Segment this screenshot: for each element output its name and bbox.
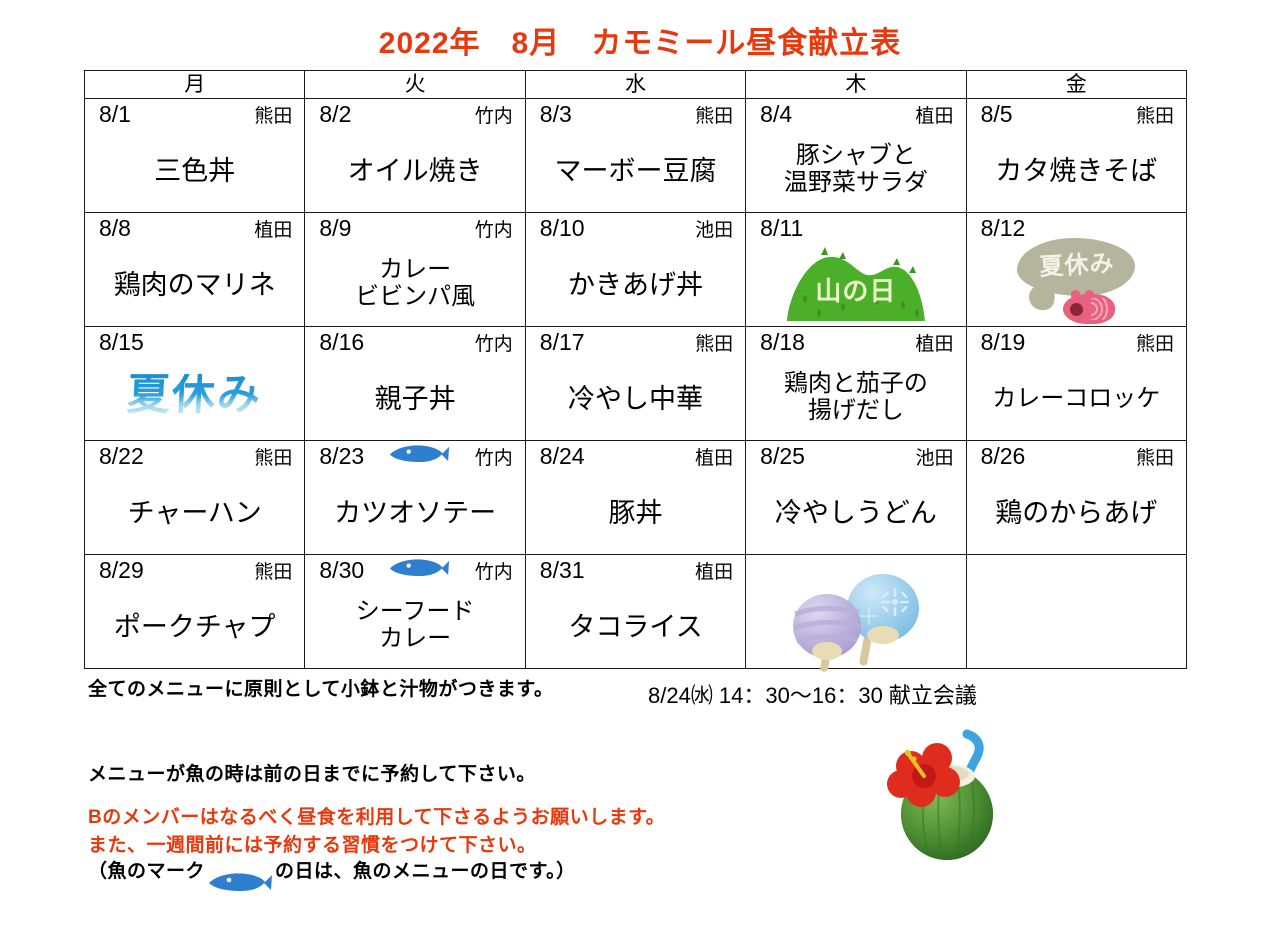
- cell-staff: 熊田: [695, 104, 733, 130]
- cell-header: 8/9竹内: [305, 213, 524, 244]
- weekday-header-wed: 水: [525, 71, 745, 99]
- cell-header: 8/3熊田: [526, 99, 745, 130]
- cell-menu: タコライス: [526, 587, 745, 668]
- cell-staff: 竹内: [475, 332, 513, 358]
- cell-menu: カツオソテー: [305, 473, 524, 554]
- calendar-cell-8-16[interactable]: 8/16竹内親子丼: [305, 327, 525, 441]
- cell-menu: ポークチャプ: [85, 587, 304, 668]
- calendar-cell-8-2[interactable]: 8/2竹内オイル焼き: [305, 99, 525, 213]
- cell-menu: シーフード カレー: [305, 583, 524, 668]
- summer-break-blue-art: 夏休み: [85, 353, 304, 438]
- weekday-header-fri: 金: [966, 71, 1186, 99]
- page-title: 2022年 8月 カモミール昼食献立表: [0, 18, 1280, 62]
- note-side-dish: 全てのメニューに原則として小鉢と汁物がつきます。: [88, 676, 554, 704]
- calendar-cell-8-9[interactable]: 8/9竹内カレー ビビンパ風: [305, 213, 525, 327]
- cell-date: 8/30: [319, 557, 364, 583]
- note-fish-line2-after: の日は、魚のメニューの日です。）: [275, 861, 576, 882]
- calendar-cell-8-18[interactable]: 8/18植田鶏肉と茄子の 揚げだし: [746, 327, 966, 441]
- cell-menu: 鶏肉と茄子の 揚げだし: [746, 355, 965, 440]
- pig-icon: [1063, 294, 1115, 324]
- cell-header: 8/31植田: [526, 555, 745, 586]
- calendar-cell-8-30[interactable]: 8/30竹内シーフード カレー: [305, 555, 525, 669]
- cell-header: 8/8植田: [85, 213, 304, 244]
- cell-date: 8/3: [540, 101, 572, 127]
- cell-staff: 熊田: [1136, 104, 1174, 130]
- calendar-cell-8-3[interactable]: 8/3熊田マーボー豆腐: [525, 99, 745, 213]
- weekday-header-tue: 火: [305, 71, 525, 99]
- cell-date: 8/11: [760, 215, 803, 241]
- cell-menu: 鶏のからあげ: [967, 473, 1186, 554]
- calendar-cell-8-22[interactable]: 8/22熊田チャーハン: [85, 441, 305, 555]
- cell-header: 8/29熊田: [85, 555, 304, 586]
- cell-date: 8/8: [99, 215, 131, 241]
- cell-menu: 豚丼: [526, 473, 745, 554]
- cell-header: 8/2竹内: [305, 99, 524, 130]
- cell-header: 8/23竹内: [305, 441, 524, 472]
- cell-header: 8/26熊田: [967, 441, 1186, 472]
- calendar-cell-8-31[interactable]: 8/31植田タコライス: [525, 555, 745, 669]
- cell-menu: カタ焼きそば: [967, 131, 1186, 212]
- cell-header: 8/4植田: [746, 99, 965, 130]
- cell-header: 8/5熊田: [967, 99, 1186, 130]
- cell-staff: 池田: [695, 218, 733, 244]
- calendar-week-row: 8/22熊田チャーハン8/23竹内カツオソテー8/24植田豚丼8/25池田冷やし…: [85, 441, 1187, 555]
- menu-calendar-table: 月 火 水 木 金 8/1熊田三色丼8/2竹内オイル焼き8/3熊田マーボー豆腐8…: [84, 70, 1187, 669]
- summer-break-bubble-art: 夏休み: [967, 239, 1186, 324]
- cell-header: 8/16竹内: [305, 327, 524, 358]
- cell-staff: 竹内: [475, 104, 513, 130]
- summer-break-blue-label: 夏休み: [126, 374, 263, 417]
- calendar-cell-8-10[interactable]: 8/10池田かきあげ丼: [525, 213, 745, 327]
- note-fish-line1: メニューが魚の時は前の日までに予約して下さい。: [88, 761, 576, 789]
- calendar-week-row: 8/29熊田ポークチャプ8/30竹内シーフード カレー8/31植田タコライス: [85, 555, 1187, 669]
- cell-header: 8/30竹内: [305, 555, 524, 586]
- fish-icon: [388, 443, 450, 469]
- cell-date: 8/9: [319, 215, 351, 241]
- cell-header: 8/15: [85, 327, 304, 355]
- cell-menu: オイル焼き: [305, 131, 524, 212]
- cell-date: 8/15: [99, 329, 144, 355]
- cell-staff: 池田: [916, 446, 954, 472]
- menu-meeting-info: 8/24㈬ 14：30〜16：30 献立会議: [648, 678, 977, 710]
- note-fish-line2-before: （魚のマーク: [88, 861, 205, 882]
- cell-date: 8/23: [319, 443, 364, 469]
- cell-menu: 三色丼: [85, 131, 304, 212]
- cell-menu: 豚シャブと 温野菜サラダ: [746, 127, 965, 212]
- cell-staff: 熊田: [1136, 446, 1174, 472]
- cell-header: 8/18植田: [746, 327, 965, 358]
- cell-date: 8/26: [981, 443, 1026, 469]
- coconut-drink-icon: [875, 722, 1025, 877]
- calendar-cell-8-19[interactable]: 8/19熊田カレーコロッケ: [966, 327, 1186, 441]
- cell-header: 8/25池田: [746, 441, 965, 472]
- cell-date: 8/17: [540, 329, 585, 355]
- cell-staff: 熊田: [254, 104, 292, 130]
- summer-break-bubble-label: 夏休み: [1024, 243, 1130, 288]
- cell-date: 8/5: [981, 101, 1013, 127]
- cell-date: 8/4: [760, 101, 792, 127]
- cell-date: 8/2: [319, 101, 351, 127]
- cell-header: 8/17熊田: [526, 327, 745, 358]
- calendar-cell-8-15[interactable]: 8/15夏休み: [85, 327, 305, 441]
- weekday-header-mon: 月: [85, 71, 305, 99]
- calendar-cell-8-5[interactable]: 8/5熊田カタ焼きそば: [966, 99, 1186, 213]
- cell-menu: カレーコロッケ: [967, 359, 1186, 440]
- calendar-cell-8-29[interactable]: 8/29熊田ポークチャプ: [85, 555, 305, 669]
- calendar-cell-empty[interactable]: [966, 555, 1186, 669]
- calendar-week-row: 8/8植田鶏肉のマリネ8/9竹内カレー ビビンパ風8/10池田かきあげ丼8/11…: [85, 213, 1187, 327]
- cell-staff: 竹内: [475, 446, 513, 472]
- fish-icon: [388, 557, 450, 583]
- calendar-cell-8-4[interactable]: 8/4植田豚シャブと 温野菜サラダ: [746, 99, 966, 213]
- cell-staff: 植田: [695, 446, 733, 472]
- cell-staff: 熊田: [1136, 332, 1174, 358]
- cell-header: 8/19熊田: [967, 327, 1186, 358]
- cell-date: 8/1: [99, 101, 131, 127]
- calendar-week-row: 8/1熊田三色丼8/2竹内オイル焼き8/3熊田マーボー豆腐8/4植田豚シャブと …: [85, 99, 1187, 213]
- calendar-cell-8-25[interactable]: 8/25池田冷やしうどん: [746, 441, 966, 555]
- cell-header: 8/24植田: [526, 441, 745, 472]
- calendar-cell-8-8[interactable]: 8/8植田鶏肉のマリネ: [85, 213, 305, 327]
- cell-date: 8/22: [99, 443, 144, 469]
- cell-staff: 熊田: [254, 560, 292, 586]
- cell-header: 8/22熊田: [85, 441, 304, 472]
- cell-menu: マーボー豆腐: [526, 131, 745, 212]
- cell-menu: 冷やしうどん: [746, 473, 965, 554]
- cell-staff: 植田: [695, 560, 733, 586]
- weekday-header-thu: 木: [746, 71, 966, 99]
- cell-header: 8/11: [746, 213, 965, 241]
- cell-date: 8/24: [540, 443, 585, 469]
- calendar-cell-8-26[interactable]: 8/26熊田鶏のからあげ: [966, 441, 1186, 555]
- cell-header: 8/10池田: [526, 213, 745, 244]
- cell-date: 8/25: [760, 443, 805, 469]
- cell-staff: 植田: [254, 218, 292, 244]
- cell-menu: 冷やし中華: [526, 359, 745, 440]
- weekday-header-row: 月 火 水 木 金: [85, 71, 1187, 99]
- cell-date: 8/16: [319, 329, 364, 355]
- mountain-day-icon: 山の日: [746, 239, 965, 324]
- cell-date: 8/29: [99, 557, 144, 583]
- cell-staff: 熊田: [695, 332, 733, 358]
- calendar-body: 8/1熊田三色丼8/2竹内オイル焼き8/3熊田マーボー豆腐8/4植田豚シャブと …: [85, 99, 1187, 669]
- calendar-cell-8-23[interactable]: 8/23竹内カツオソテー: [305, 441, 525, 555]
- cell-date: 8/31: [540, 557, 585, 583]
- cell-menu: かきあげ丼: [526, 245, 745, 326]
- uchiwa-fans-icon: [746, 581, 965, 666]
- cell-staff: 熊田: [254, 446, 292, 472]
- calendar-cell-8-24[interactable]: 8/24植田豚丼: [525, 441, 745, 555]
- cell-menu: カレー ビビンパ風: [305, 241, 524, 326]
- calendar-cell-8-11[interactable]: 8/11山の日: [746, 213, 966, 327]
- cell-date: 8/10: [540, 215, 585, 241]
- cell-menu: 親子丼: [305, 359, 524, 440]
- mountain-day-label: 山の日: [781, 271, 931, 308]
- note-member-request: Bのメンバーはなるべく昼食を利用して下さるようお願いします。 また、一週間前には…: [88, 804, 665, 859]
- calendar-cell-8-17[interactable]: 8/17熊田冷やし中華: [525, 327, 745, 441]
- calendar-cell-empty[interactable]: [746, 555, 966, 669]
- cell-menu: チャーハン: [85, 473, 304, 554]
- calendar-week-row: 8/15夏休み8/16竹内親子丼8/17熊田冷やし中華8/18植田鶏肉と茄子の …: [85, 327, 1187, 441]
- cell-menu: 鶏肉のマリネ: [85, 245, 304, 326]
- cell-header: 8/1熊田: [85, 99, 304, 130]
- cell-date: 8/18: [760, 329, 805, 355]
- calendar-cell-8-1[interactable]: 8/1熊田三色丼: [85, 99, 305, 213]
- calendar-cell-8-12[interactable]: 8/12夏休み: [966, 213, 1186, 327]
- cell-date: 8/19: [981, 329, 1026, 355]
